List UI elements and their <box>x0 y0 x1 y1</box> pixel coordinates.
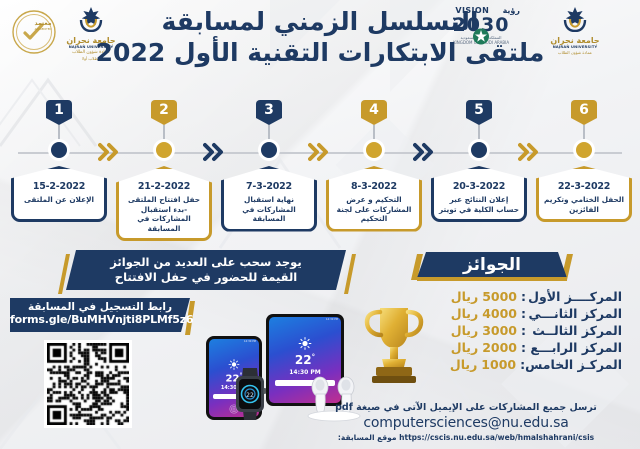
prize-currency: ريال <box>451 288 478 305</box>
university-name-ar: جامعة نجران <box>58 36 124 45</box>
trophy-icon <box>362 300 426 386</box>
timeline-step-1: 115-2-2022الإعلان عن الملتقى <box>6 100 112 222</box>
prizes-heading-text: الجوائز <box>417 252 567 278</box>
prize-amount: 4000 <box>482 305 517 322</box>
prize-currency: ريال <box>451 322 478 339</box>
timeline-chevron-icon <box>98 142 120 162</box>
prize-amount: 2000 <box>482 339 517 356</box>
svg-text:ACCREDITED: ACCREDITED <box>35 27 52 31</box>
prize-place: المركز الثالــث <box>526 322 622 339</box>
footer-site-label: موقع المسابقة: <box>338 433 397 442</box>
timeline-step-desc: الحفل الختامي وتكريم الفائزين <box>544 195 624 214</box>
timeline-step-badge: 1 <box>46 100 72 125</box>
prize-separator: : <box>521 288 526 305</box>
registration-url[interactable]: forms.gle/BuMHVnjti8PLMf5z6 <box>10 313 190 326</box>
timeline-step-dot <box>576 142 592 158</box>
footer-site-line: https://cscis.nu.edu.sa/web/hmalshahrani… <box>306 432 626 443</box>
timeline-step-card: 15-2-2022الإعلان عن الملتقى <box>11 166 107 222</box>
timeline-chevron-icon <box>308 142 330 162</box>
tablet-status-bar: 14:30 PM <box>326 318 338 321</box>
timeline-step-badge: 3 <box>256 100 282 125</box>
phone-status-bar: 14:30 PM <box>244 340 256 343</box>
timeline-step-badge: 5 <box>466 100 492 125</box>
svg-text:22: 22 <box>246 392 254 399</box>
prize-currency: ريال <box>450 356 477 373</box>
timeline-step-stem <box>583 125 585 143</box>
prize-place: المركز الرابـــع <box>526 339 622 356</box>
timeline-step-desc: حفل افتتاح الملتقى -بدء استقبال المشاركا… <box>124 195 204 233</box>
timeline-step-6: 622-3-2022الحفل الختامي وتكريم الفائزين <box>531 100 637 222</box>
banner-edge-right <box>344 254 356 294</box>
prize-separator: : <box>521 322 526 339</box>
timeline-step-dot <box>51 142 67 158</box>
smartwatch-device: 22 <box>230 366 270 422</box>
banner-bar: يوجد سحب على العديد من الجوائز القيمة لل… <box>66 250 346 290</box>
qr-code[interactable] <box>44 340 132 428</box>
footer-site-url[interactable]: https://cscis.nu.edu.sa/web/hmalshahrani… <box>399 432 594 443</box>
timeline-step-5: 520-3-2022إعلان النتائج عبر حساب الكلية … <box>426 100 532 222</box>
timeline-step-3: 37-3-2022نهاية استقبال المشاركات في المس… <box>216 100 322 232</box>
sun-icon <box>299 337 312 350</box>
timeline-step-desc: الإعلان عن الملتقى <box>19 195 99 205</box>
university-logo-right: جامعة نجران NAJRAN UNIVERSITY عمادة شؤون… <box>532 6 618 56</box>
timeline-step-card: 8-3-2022التحكيم و عرض المشاركات على لجنة… <box>326 166 422 232</box>
footer-submission-note: ترسل جميع المشاركات على الإيميل الآتى في… <box>306 401 626 414</box>
timeline-step-dot <box>156 142 172 158</box>
tablet-temperature: 22° <box>269 353 341 367</box>
prize-draw-banner: يوجد سحب على العديد من الجوائز القيمة لل… <box>58 250 354 290</box>
registration-link-box[interactable]: رابط التسجيل في المسابقة forms.gle/BuMHV… <box>10 298 190 332</box>
prize-currency: ريال <box>451 339 478 356</box>
timeline-step-dot <box>366 142 382 158</box>
prize-amount: 1000 <box>481 356 516 373</box>
timeline-step-date: 7-3-2022 <box>229 181 309 192</box>
timeline: 115-2-2022الإعلان عن الملتقى221-2-2022حف… <box>0 100 640 240</box>
prizes-heading: الجوائز <box>417 252 567 278</box>
university-logo-left: جامعة نجران NAJRAN UNIVERSITY عمادة شؤون… <box>58 6 124 58</box>
timeline-chevron-icon <box>518 142 540 162</box>
timeline-step-badge: 6 <box>571 100 597 125</box>
timeline-step-date: 15-2-2022 <box>19 181 99 192</box>
prizes-section: الجوائز المركــــز الأول:5000ريالالمركز … <box>358 252 626 402</box>
timeline-chevron-icon <box>203 142 225 162</box>
university-mark-right-icon <box>532 6 618 32</box>
qr-code-canvas[interactable] <box>47 343 129 425</box>
timeline-step-card: 21-2-2022حفل افتتاح الملتقى -بدء استقبال… <box>116 166 212 241</box>
timeline-chevron-icon <box>413 142 435 162</box>
timeline-step-dot <box>261 142 277 158</box>
poster-root: معتمد ACCREDITED جامعة نجران NAJRAN UNIV… <box>0 0 640 449</box>
timeline-step-2: 221-2-2022حفل افتتاح الملتقى -بدء استقبا… <box>111 100 217 241</box>
prize-separator: : <box>520 356 525 373</box>
registration-label: رابط التسجيل في المسابقة <box>10 298 190 313</box>
timeline-step-date: 21-2-2022 <box>124 181 204 192</box>
timeline-step-date: 22-3-2022 <box>544 181 624 192</box>
university-mark-icon <box>58 6 124 32</box>
vision-2030-logo: VISION رؤية 2030 المملكة العربية السعودي… <box>442 6 520 56</box>
timeline-step-stem <box>163 125 165 143</box>
timeline-step-desc: نهاية استقبال المشاركات في المسابقة <box>229 195 309 224</box>
timeline-step-stem <box>373 125 375 143</box>
prize-separator: : <box>521 339 526 356</box>
timeline-step-card: 20-3-2022إعلان النتائج عبر حساب الكلية ف… <box>431 166 527 222</box>
university-right-sub-ar: عمادة شؤون الطلاب <box>532 50 618 56</box>
timeline-step-badge: 4 <box>361 100 387 125</box>
timeline-step-desc: إعلان النتائج عبر حساب الكلية في تويتر <box>439 195 519 214</box>
footer: ترسل جميع المشاركات على الإيميل الآتى في… <box>306 401 626 443</box>
prize-amount: 3000 <box>482 322 517 339</box>
header: معتمد ACCREDITED جامعة نجران NAJRAN UNIV… <box>0 0 640 92</box>
timeline-step-date: 8-3-2022 <box>334 181 414 192</box>
prize-place: المركــــز الأول <box>526 288 622 305</box>
university-dept-sub-ar: الطلاب أولا <box>58 56 124 62</box>
university-right-name-ar: جامعة نجران <box>532 36 618 45</box>
banner-line-2: القيمة للحضور في حفل الافتتاح <box>110 270 301 285</box>
vision-year: 2030 <box>442 15 520 35</box>
footer-email[interactable]: computersciences@nu.edu.sa <box>306 414 626 432</box>
timeline-step-card: 22-3-2022الحفل الختامي وتكريم الفائزين <box>536 166 632 222</box>
banner-line-1: يوجد سحب على العديد من الجوائز <box>110 255 301 270</box>
vision-emblem-icon <box>473 28 490 45</box>
prize-amount: 5000 <box>482 288 517 305</box>
timeline-step-stem <box>478 125 480 143</box>
accreditation-badge-icon: معتمد ACCREDITED <box>10 8 58 56</box>
timeline-step-date: 20-3-2022 <box>439 181 519 192</box>
timeline-step-card: 7-3-2022نهاية استقبال المشاركات في المسا… <box>221 166 317 232</box>
timeline-step-badge: 2 <box>151 100 177 125</box>
timeline-step-stem <box>58 125 60 143</box>
timeline-step-dot <box>471 142 487 158</box>
svg-text:معتمد: معتمد <box>34 20 51 27</box>
timeline-step-stem <box>268 125 270 143</box>
prize-place: المركز الثانـــي <box>526 305 622 322</box>
timeline-step-4: 48-3-2022التحكيم و عرض المشاركات على لجن… <box>321 100 427 232</box>
prize-place: المركـز الخامس <box>525 356 622 373</box>
prize-separator: : <box>521 305 526 322</box>
prize-currency: ريال <box>451 305 478 322</box>
timeline-step-desc: التحكيم و عرض المشاركات على لجنة التحكيم <box>334 195 414 224</box>
